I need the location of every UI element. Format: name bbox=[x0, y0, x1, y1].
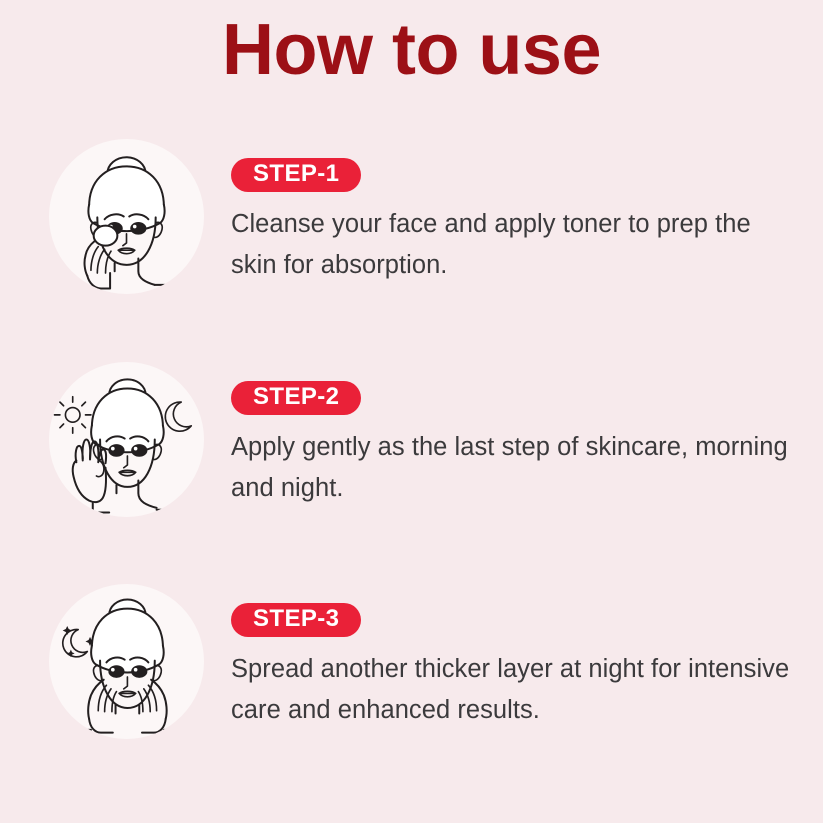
step-badge: STEP-1 bbox=[231, 158, 361, 192]
step-content: STEP-1 Cleanse your face and apply toner… bbox=[231, 128, 803, 286]
crescent-moon-icon bbox=[165, 402, 191, 431]
step-content: STEP-2 Apply gently as the last step of … bbox=[231, 351, 803, 509]
step-badge: STEP-2 bbox=[231, 381, 361, 415]
step-description: Spread another thicker layer at night fo… bbox=[231, 649, 791, 731]
sun-icon bbox=[54, 397, 90, 433]
step-badge: STEP-3 bbox=[231, 603, 361, 637]
step-description: Cleanse your face and apply toner to pre… bbox=[231, 204, 791, 286]
woman-applying-cream-with-hand-icon bbox=[49, 362, 204, 517]
woman-applying-cotton-pad-to-cheek-icon bbox=[49, 139, 204, 294]
step-description: Apply gently as the last step of skincar… bbox=[231, 427, 791, 509]
illustration-step-3 bbox=[49, 584, 204, 739]
crescent-moon-stars-icon bbox=[63, 626, 95, 657]
step-row: STEP-1 Cleanse your face and apply toner… bbox=[0, 128, 823, 308]
page-title: How to use bbox=[0, 14, 823, 86]
step-row: STEP-2 Apply gently as the last step of … bbox=[0, 351, 823, 531]
woman-patting-both-cheeks-icon bbox=[49, 584, 204, 739]
how-to-use-infographic: How to use bbox=[0, 0, 823, 823]
step-row: STEP-3 Spread another thicker layer at n… bbox=[0, 573, 823, 753]
step-content: STEP-3 Spread another thicker layer at n… bbox=[231, 573, 803, 731]
illustration-step-2 bbox=[49, 362, 204, 517]
illustration-step-1 bbox=[49, 139, 204, 294]
